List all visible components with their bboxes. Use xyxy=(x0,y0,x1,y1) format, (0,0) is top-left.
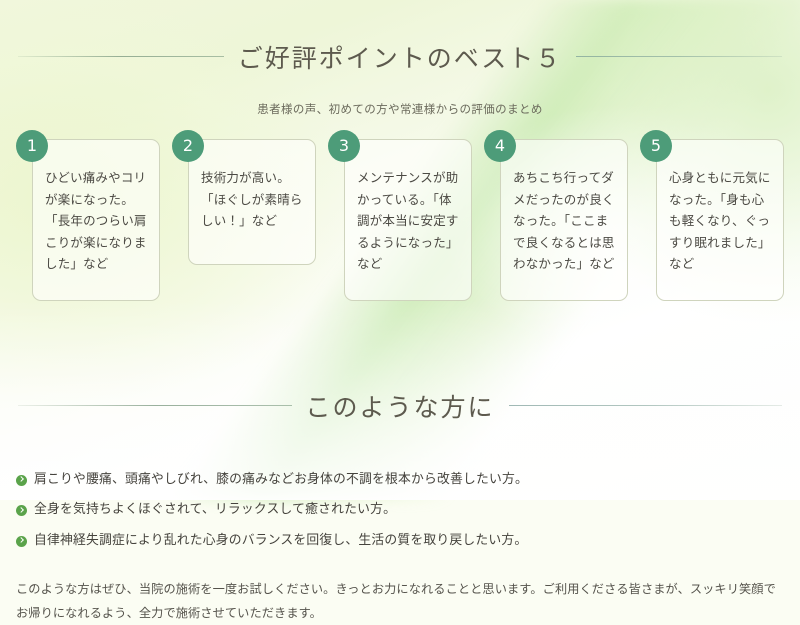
card-body: ひどい痛みやコリが楽になった。「長年のつらい肩こりが楽になりました」など xyxy=(32,139,160,302)
card-number-badge: 5 xyxy=(640,130,672,162)
heading-rule-left xyxy=(18,405,292,406)
best5-card-5: 5 心身ともに元気になった。「身も心も軽くなり、ぐっすり眠れました」など xyxy=(640,139,784,302)
chevron-right-circle-icon xyxy=(16,475,27,486)
card-number-badge: 3 xyxy=(328,130,360,162)
best5-card-2: 2 技術力が高い。「ほぐしが素晴らしい！」など xyxy=(172,139,316,302)
best5-card-4: 4 あちこち行ってダメだったのが良くなった。「ここまで良くなるとは思わなかった」… xyxy=(484,139,628,302)
card-text: 技術力が高い。「ほぐしが素晴らしい！」など xyxy=(201,168,306,233)
best5-card-list: 1 ひどい痛みやコリが楽になった。「長年のつらい肩こりが楽になりました」など 2… xyxy=(0,117,800,302)
card-number-badge: 4 xyxy=(484,130,516,162)
heading-rule-left xyxy=(18,56,224,57)
list-item: 肩こりや腰痛、頭痛やしびれ、膝の痛みなどお身体の不調を根本から改善したい方。 xyxy=(16,471,780,488)
list-item-label: 肩こりや腰痛、頭痛やしびれ、膝の痛みなどお身体の不調を根本から改善したい方。 xyxy=(34,471,528,488)
page-title: ご好評ポイントのベスト５ xyxy=(238,39,563,75)
best5-card-1: 1 ひどい痛みやコリが楽になった。「長年のつらい肩こりが楽になりました」など xyxy=(16,139,160,302)
card-body: 技術力が高い。「ほぐしが素晴らしい！」など xyxy=(188,139,316,265)
card-text: あちこち行ってダメだったのが良くなった。「ここまで良くなるとは思わなかった」など xyxy=(513,168,618,276)
konoyouna-heading-row: このような方に xyxy=(0,367,800,445)
heading-rule-right xyxy=(576,56,782,57)
card-text: メンテナンスが助かっている。「体調が本当に安定するようになった」など xyxy=(357,168,462,276)
best5-card-3: 3 メンテナンスが助かっている。「体調が本当に安定するようになった」など xyxy=(328,139,472,302)
page-root: ご好評ポイントのベスト５ 患者様の声、初めての方や常連様からの評価のまとめ 1 … xyxy=(0,0,800,500)
list-item: 自律神経失調症により乱れた心身のバランスを回復し、生活の質を取り戻したい方。 xyxy=(16,532,780,549)
chevron-right-circle-icon xyxy=(16,536,27,547)
card-text: ひどい痛みやコリが楽になった。「長年のつらい肩こりが楽になりました」など xyxy=(45,168,150,276)
heading-rule-right xyxy=(509,405,783,406)
card-body: あちこち行ってダメだったのが良くなった。「ここまで良くなるとは思わなかった」など xyxy=(500,139,628,302)
list-item-label: 自律神経失調症により乱れた心身のバランスを回復し、生活の質を取り戻したい方。 xyxy=(34,532,527,549)
section-title: このような方に xyxy=(306,388,495,424)
list-item-label: 全身を気持ちよくほぐされて、リラックスして癒されたい方。 xyxy=(34,501,396,518)
card-number-badge: 1 xyxy=(16,130,48,162)
target-audience-list: 肩こりや腰痛、頭痛やしびれ、膝の痛みなどお身体の不調を根本から改善したい方。 全… xyxy=(0,445,800,549)
chevron-right-circle-icon xyxy=(16,505,27,516)
closing-paragraph: このような方はぜひ、当院の施術を一度お試しください。きっとお力になれることと思い… xyxy=(0,562,800,625)
page-subtitle: 患者様の声、初めての方や常連様からの評価のまとめ xyxy=(0,101,800,117)
list-item: 全身を気持ちよくほぐされて、リラックスして癒されたい方。 xyxy=(16,501,780,518)
best5-heading-row: ご好評ポイントのベスト５ xyxy=(0,22,800,92)
top-section-header: ご好評ポイントのベスト５ 患者様の声、初めての方や常連様からの評価のまとめ xyxy=(0,0,800,117)
card-body: メンテナンスが助かっている。「体調が本当に安定するようになった」など xyxy=(344,139,472,302)
second-section-header: このような方に xyxy=(0,301,800,445)
card-text: 心身ともに元気になった。「身も心も軽くなり、ぐっすり眠れました」など xyxy=(669,168,774,276)
card-number-badge: 2 xyxy=(172,130,204,162)
card-body: 心身ともに元気になった。「身も心も軽くなり、ぐっすり眠れました」など xyxy=(656,139,784,302)
